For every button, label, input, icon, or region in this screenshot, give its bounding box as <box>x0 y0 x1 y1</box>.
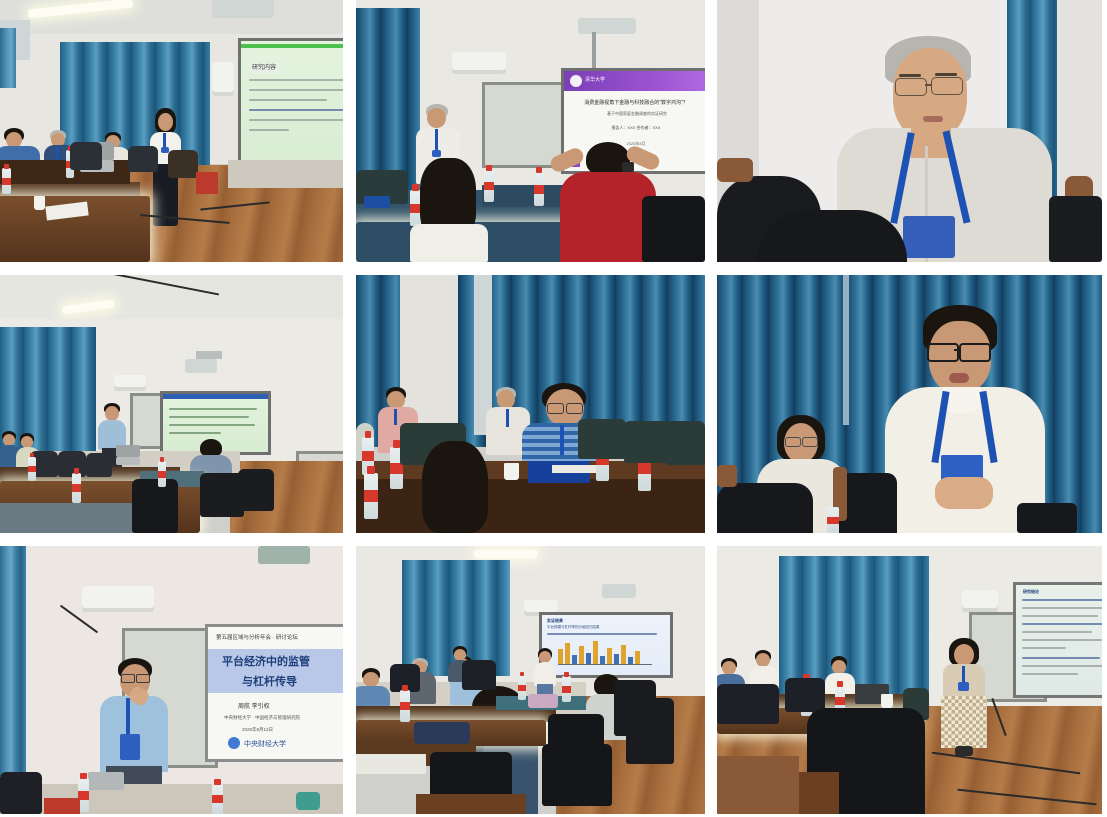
water-bottle <box>534 172 544 206</box>
conference-lanyard <box>126 698 130 738</box>
slide-header-band: 清华大学 <box>564 71 705 91</box>
office-chair <box>839 473 897 533</box>
slide-title-line-1: 平台经济中的监管 <box>222 653 310 669</box>
projector-icon <box>578 18 636 34</box>
water-bottle <box>28 457 36 481</box>
office-chair <box>578 419 626 459</box>
office-chair <box>1017 503 1077 533</box>
water-bottle <box>827 507 839 533</box>
office-chair <box>70 142 102 170</box>
office-chair <box>128 146 158 172</box>
slide-affiliation: 中央财经大学 · 中国经济与管理研究院 <box>224 715 340 721</box>
glasses-icon <box>566 403 583 414</box>
slide-subheading: 平台规模与杠杆率的分组回归结果 <box>547 625 600 630</box>
slide-logo-text: 清华大学 <box>585 76 605 83</box>
photo-tile-8[interactable]: 实证结果 平台规模与杠杆率的分组回归结果 <box>356 546 705 814</box>
glasses-icon <box>895 78 927 96</box>
photo-2-scene: 清华大学 消费金融视角下金融与科技融合的"数字鸿沟"？ 基于中国家庭金融调查的实… <box>356 0 705 262</box>
office-chair <box>168 150 198 178</box>
slide-title: 消费金融视角下金融与科技融合的"数字鸿沟"？ <box>572 99 700 106</box>
water-bottle <box>72 473 81 503</box>
glasses-icon <box>785 437 801 447</box>
slide-title-line-2: 与杠杆传导 <box>242 673 297 689</box>
audience-person <box>416 158 482 262</box>
slide-bar-chart <box>558 639 652 665</box>
office-chair <box>785 678 825 712</box>
glasses-icon <box>959 343 991 362</box>
office-chair <box>717 483 813 533</box>
glasses-icon <box>927 343 959 362</box>
slide-heading: 研究内容 <box>249 63 279 73</box>
photo-tile-3[interactable] <box>717 0 1102 262</box>
name-badge <box>120 734 140 760</box>
water-bottle <box>562 676 571 702</box>
projection-screen: 研究结论 <box>1013 582 1102 698</box>
paper-cup <box>504 463 519 480</box>
office-chair <box>666 421 705 465</box>
air-conditioner-icon <box>962 590 998 612</box>
foreground-person <box>422 441 488 533</box>
slide-heading: 研究结论 <box>1023 589 1039 595</box>
photo-tile-1[interactable]: 研究内容 <box>0 0 343 262</box>
photo-collage-page: 研究内容 <box>0 0 1107 817</box>
office-chair <box>757 210 907 262</box>
photo-5-scene <box>356 275 705 533</box>
air-conditioner-icon <box>452 52 506 74</box>
photo-4-scene <box>0 275 343 533</box>
office-chair <box>717 684 779 724</box>
glasses-icon <box>802 437 818 447</box>
name-badge <box>903 216 955 258</box>
photo-9-scene: 研究结论 <box>717 546 1102 814</box>
water-bottle <box>400 690 410 722</box>
air-conditioner-icon <box>114 375 146 391</box>
paper-cup <box>34 196 45 210</box>
laptop-icon <box>116 457 140 465</box>
ceiling-light-icon <box>474 550 538 558</box>
photo-tile-2[interactable]: 清华大学 消费金融视角下金融与科技融合的"数字鸿沟"？ 基于中国家庭金融调查的实… <box>356 0 705 262</box>
photo-tile-4[interactable] <box>0 275 343 533</box>
laptop-icon <box>88 772 124 790</box>
photo-tile-5[interactable] <box>356 275 705 533</box>
slide-subtitle: 基于中国家庭金融调查的实证研究 <box>578 111 696 117</box>
water-bottle <box>212 784 223 814</box>
window-curtain <box>0 546 26 776</box>
photo-8-scene: 实证结果 平台规模与杠杆率的分组回归结果 <box>356 546 705 814</box>
water-bottle <box>518 676 526 700</box>
slide-presenter-line: 报告人：XXX 合作者：XXX <box>584 125 688 131</box>
photo-tile-9[interactable]: 研究结论 <box>717 546 1102 814</box>
projector-icon <box>212 0 274 18</box>
projector-icon <box>602 584 636 598</box>
glasses-icon <box>547 403 564 414</box>
water-bottle <box>484 170 494 202</box>
water-bottle <box>364 473 378 519</box>
office-chair <box>0 772 42 814</box>
university-logo-icon <box>570 75 582 87</box>
water-bottle <box>158 461 166 487</box>
projector-icon <box>185 359 217 373</box>
slide-logo-text: 中央财经大学 <box>244 739 286 749</box>
slide-heading: 实证结果 <box>547 618 563 624</box>
slide-authors: 周航 李引权 <box>238 701 270 710</box>
photo-3-scene <box>717 0 1102 262</box>
photo-tile-6[interactable] <box>717 275 1102 533</box>
glasses-icon <box>931 77 963 95</box>
name-badge <box>958 682 969 691</box>
photo-6-scene <box>717 275 1102 533</box>
name-plate <box>364 196 390 208</box>
photo-7-scene: 第五届区域与分析年会 · 研讨论坛 平台经济中的监管 与杠杆传导 周航 李引权 … <box>0 546 343 814</box>
photo-1-scene: 研究内容 <box>0 0 343 262</box>
glasses-icon <box>136 674 150 683</box>
glasses-icon <box>121 674 135 683</box>
air-conditioner-icon <box>212 62 234 96</box>
slide-date: 2025年8月12日 <box>242 727 273 733</box>
slide-conference-line: 第五届区域与分析年会 · 研讨论坛 <box>216 633 340 641</box>
speaker-person <box>885 305 1045 533</box>
water-bottle <box>2 168 11 194</box>
university-logo-icon <box>228 737 240 749</box>
projector-icon <box>258 546 310 564</box>
projection-screen: 第五届区域与分析年会 · 研讨论坛 平台经济中的监管 与杠杆传导 周航 李引权 … <box>205 624 343 762</box>
projection-screen: 实证结果 平台规模与杠杆率的分组回归结果 <box>539 612 673 678</box>
photo-tile-7[interactable]: 第五届区域与分析年会 · 研讨论坛 平台经济中的监管 与杠杆传导 周航 李引权 … <box>0 546 343 814</box>
paper-cup <box>881 694 893 708</box>
air-conditioner-icon <box>82 586 154 612</box>
presenter-person <box>939 638 989 756</box>
window-curtain <box>356 8 420 193</box>
